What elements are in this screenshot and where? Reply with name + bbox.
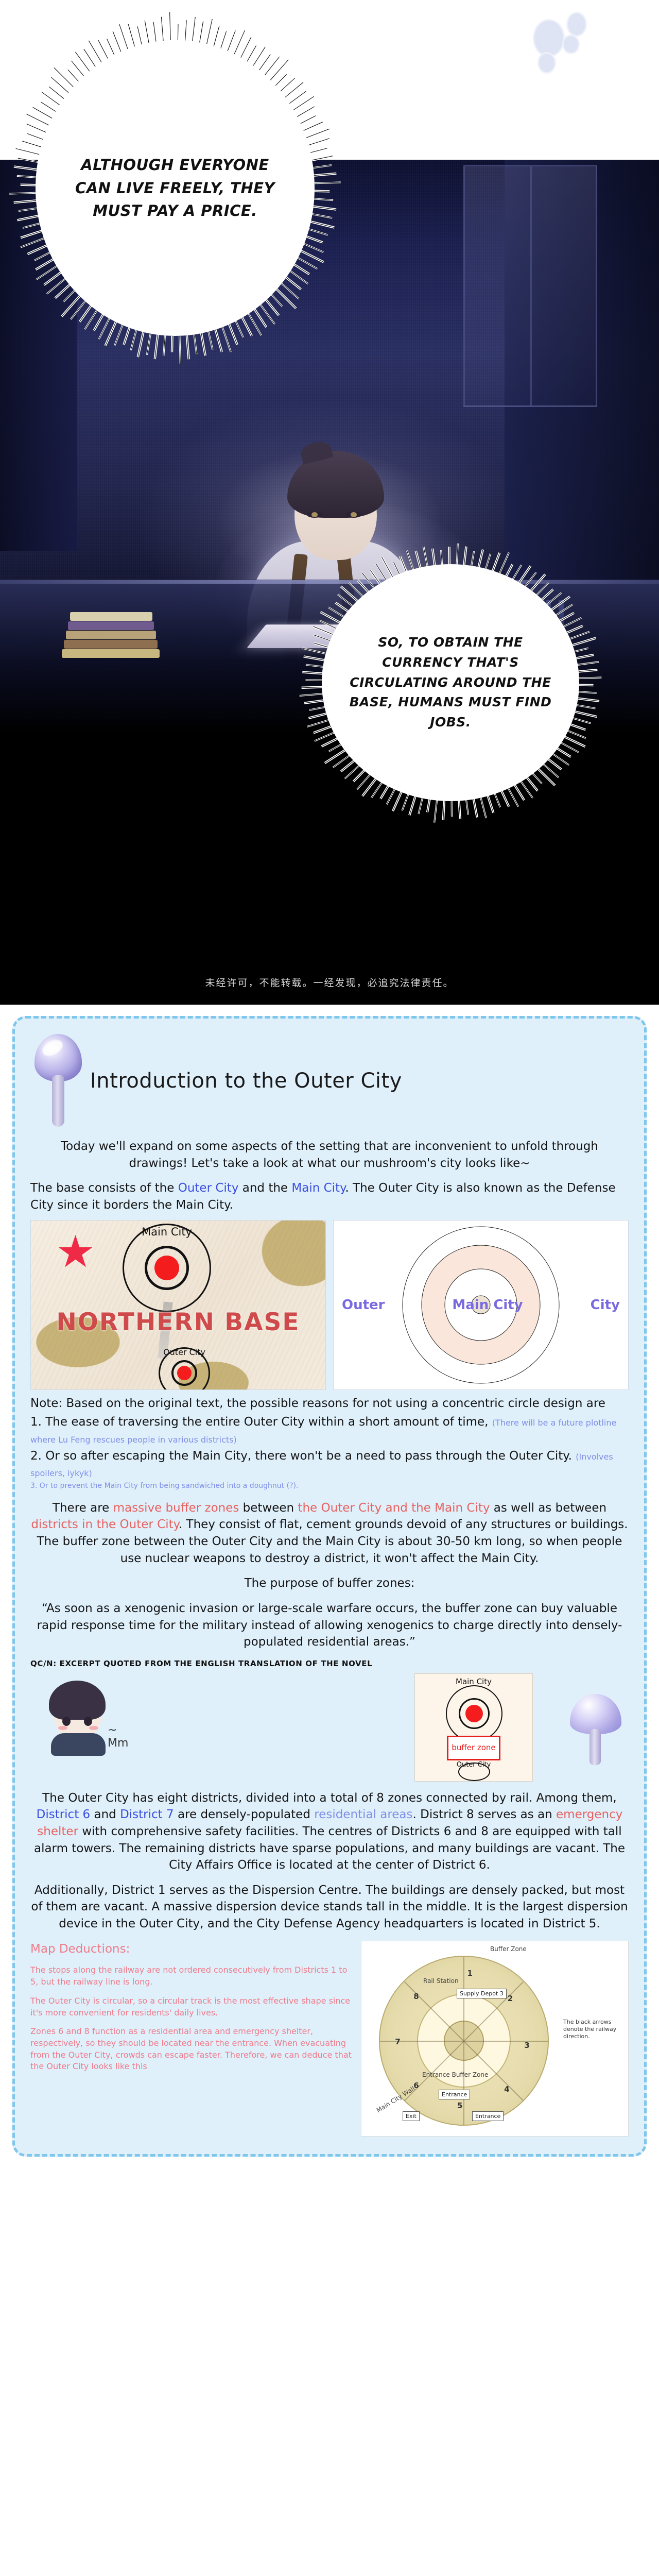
note-1-main: 1. The ease of traversing the entire Out… <box>30 1415 488 1429</box>
wheel-entrance-tag: Entrance <box>439 2090 470 2099</box>
info-card: Introduction to the Outer City Today we'… <box>12 1016 647 2157</box>
wheel-entrance-tag-2: Entrance <box>472 2111 504 2121</box>
speech-bubble-2: SO, TO OBTAIN THE CURRENCY THAT'S CIRCUL… <box>293 538 608 827</box>
outer-city-marker: Outer City <box>159 1347 210 1390</box>
buffer-zone-mini-map: Main City buffer zone Outer City <box>414 1673 533 1782</box>
districts-text-b: are densely-populated <box>174 1808 315 1821</box>
wheel-district-3: 3 <box>524 2041 529 2050</box>
deductions-row: Map Deductions: The stops along the rail… <box>30 1941 629 2137</box>
webtoon-page: ALTHOUGH EVERYONE CAN LIVE FREELY, THEY … <box>0 0 659 2164</box>
map-title: NORTHERN BASE <box>31 1308 325 1336</box>
buffer-highlight-2: the Outer City and the Main City <box>298 1501 490 1515</box>
wheel-note: The black arrows denote the railway dire… <box>563 2019 625 2041</box>
base-paragraph: The base consists of the Outer City and … <box>30 1180 629 1213</box>
paw-print-icon <box>530 8 600 77</box>
maps-row: Main City NORTHERN BASE Outer City Outer… <box>30 1220 629 1390</box>
wheel-rail-station-label: Rail Station <box>423 1977 459 1985</box>
copyright-notice: 未经许可，不能转载。一经发现，必追究法律责任。 <box>0 975 659 989</box>
wheel-district-4: 4 <box>504 2084 509 2094</box>
info-panel: Introduction to the Outer City Today we'… <box>0 1005 659 2164</box>
wheel-note-text: The black arrows denote the railway dire… <box>563 2019 625 2041</box>
districts-and: and <box>90 1808 120 1821</box>
speech-bubble-1-text: ALTHOUGH EVERYONE CAN LIVE FREELY, THEY … <box>66 154 284 223</box>
northern-base-map: Main City NORTHERN BASE Outer City <box>30 1220 326 1390</box>
buffer-text-a: There are <box>53 1501 113 1515</box>
outer-city-label: Outer City <box>163 1347 205 1357</box>
wheel-supply-depot-tag: Supply Depot 3 <box>457 1989 507 1998</box>
character-hair <box>287 451 384 518</box>
concentric-label-outer: Outer <box>342 1297 385 1313</box>
wheel-district-5: 5 <box>457 2101 462 2110</box>
buffer-text-b: between <box>239 1501 298 1515</box>
concentric-label-main: Main City <box>452 1297 523 1313</box>
card-title-row: Introduction to the Outer City <box>30 1032 629 1130</box>
note-heading: Note: Based on the original text, the po… <box>30 1395 629 1412</box>
deduction-2: The Outer City is circular, so a circula… <box>30 1995 352 2019</box>
base-outer-city: Outer City <box>178 1181 239 1195</box>
districts-paragraph: The Outer City has eight districts, divi… <box>30 1790 629 1874</box>
character-pupil-right <box>351 512 357 517</box>
wheel-exit-tag: Exit <box>403 2111 420 2121</box>
chibi-sound-text: ~ Mm <box>108 1724 133 1750</box>
intro-paragraph: Today we'll expand on some aspects of th… <box>30 1138 629 1172</box>
base-main-city: Main City <box>291 1181 345 1195</box>
window-icon <box>463 165 597 407</box>
character-pupil-left <box>311 512 318 517</box>
district-6: District 6 <box>37 1808 91 1821</box>
book-stack <box>62 613 160 658</box>
chibi-character: ~ Mm <box>30 1676 133 1754</box>
comic-panel: ALTHOUGH EVERYONE CAN LIVE FREELY, THEY … <box>0 0 659 1005</box>
speech-bubble-1-body: ALTHOUGH EVERYONE CAN LIVE FREELY, THEY … <box>36 40 314 336</box>
mushroom-icon-2 <box>567 1694 629 1771</box>
card-title: Introduction to the Outer City <box>90 1069 402 1093</box>
concentric-label-city: City <box>591 1297 620 1313</box>
deduction-1: The stops along the railway are not orde… <box>30 1964 352 1988</box>
speech-bubble-2-text: SO, TO OBTAIN THE CURRENCY THAT'S CIRCUL… <box>348 633 553 733</box>
deductions-column: Map Deductions: The stops along the rail… <box>30 1941 352 2137</box>
mini-map-main-label: Main City <box>456 1677 492 1686</box>
district-7: District 7 <box>120 1808 174 1821</box>
chibi-row: ~ Mm Main City buffer zone Outer City <box>30 1673 629 1782</box>
wheel-district-8: 8 <box>413 1992 419 2001</box>
buffer-highlight-3: districts in the Outer City <box>31 1518 179 1531</box>
wheel-buffer-zone-label: Buffer Zone <box>490 1945 527 1953</box>
note-list: 1. The ease of traversing the entire Out… <box>30 1414 629 1492</box>
base-text-and: and the <box>238 1181 291 1195</box>
purpose-heading: The purpose of buffer zones: <box>30 1575 629 1592</box>
concentric-diagram: Outer Main City City <box>333 1220 629 1390</box>
mushroom-icon <box>30 1032 87 1130</box>
deduction-3: Zones 6 and 8 function as a residential … <box>30 2026 352 2073</box>
districts-text-d: with comprehensive safety facilities. Th… <box>34 1825 625 1872</box>
mini-map-buffer-label: buffer zone <box>447 1736 500 1760</box>
deductions-title: Map Deductions: <box>30 1941 352 1958</box>
wheel: 1 2 3 4 5 6 7 8 <box>379 1956 549 2126</box>
qc-note: QC/N: EXCERPT QUOTED FROM THE ENGLISH TR… <box>30 1659 629 1669</box>
buffer-zone-paragraph: There are massive buffer zones between t… <box>30 1500 629 1567</box>
concentric-labels: Outer Main City City <box>334 1297 628 1313</box>
wheel-district-2: 2 <box>508 1994 513 2003</box>
speech-bubble-1: ALTHOUGH EVERYONE CAN LIVE FREELY, THEY … <box>5 8 345 368</box>
note-item-2: 2. Or so after escaping the Main City, t… <box>30 1448 629 1481</box>
districts-text-c: . District 8 serves as an <box>413 1808 557 1821</box>
note-item-1: 1. The ease of traversing the entire Out… <box>30 1414 629 1447</box>
buffer-highlight-1: massive buffer zones <box>113 1501 239 1515</box>
buffer-text-c: as well as between <box>490 1501 606 1515</box>
main-city-label: Main City <box>142 1226 192 1238</box>
buffer-quote: “As soon as a xenogenic invasion or larg… <box>30 1600 629 1651</box>
speech-bubble-2-body: SO, TO OBTAIN THE CURRENCY THAT'S CIRCUL… <box>322 564 579 801</box>
additional-paragraph: Additionally, District 1 serves as the D… <box>30 1882 629 1933</box>
wheel-entrance-buffer-label: Entrance Buffer Zone <box>422 2071 488 2078</box>
outer-city-wheel-diagram: 1 2 3 4 5 6 7 8 Buffer Zone Rail Station… <box>361 1941 629 2137</box>
note-item-3: 3. Or to prevent the Main City from bein… <box>30 1481 629 1492</box>
wheel-district-1: 1 <box>467 1969 473 1978</box>
residential-areas: residential areas <box>314 1808 412 1821</box>
base-text-a: The base consists of the <box>30 1181 178 1195</box>
main-city-marker: Main City <box>123 1224 211 1312</box>
note-2-main: 2. Or so after escaping the Main City, t… <box>30 1449 572 1463</box>
districts-text-a: The Outer City has eight districts, divi… <box>42 1791 617 1805</box>
wheel-district-7: 7 <box>395 2037 400 2046</box>
